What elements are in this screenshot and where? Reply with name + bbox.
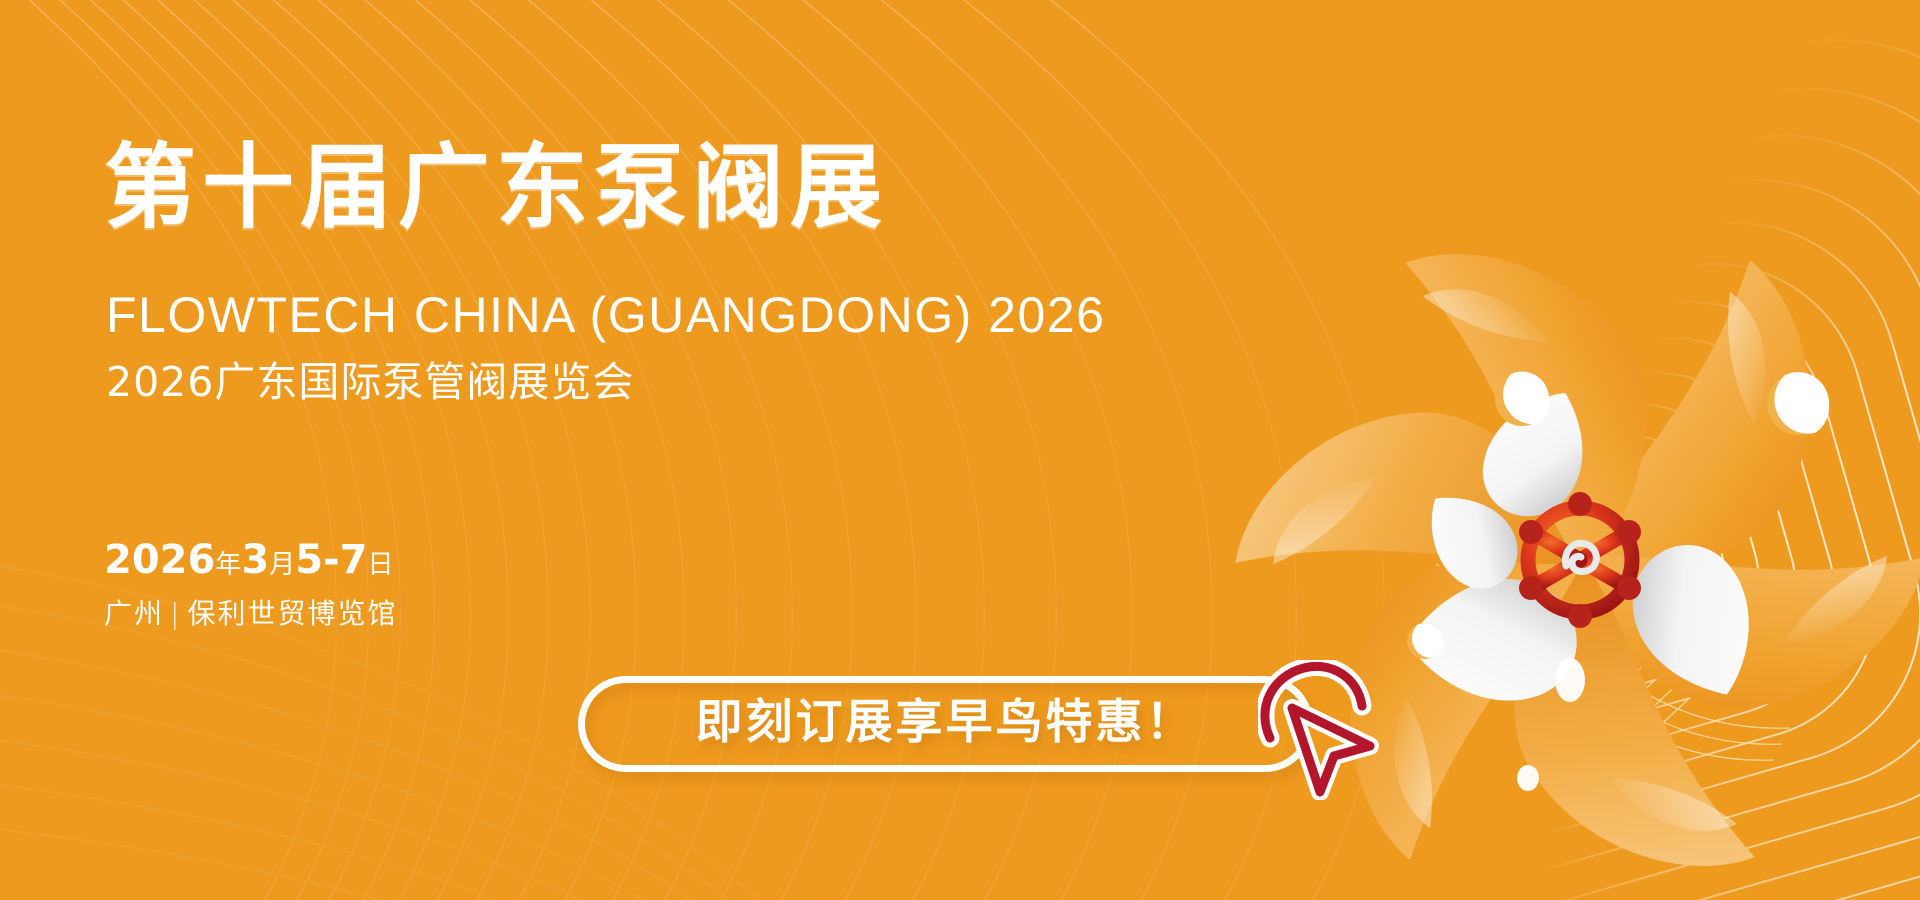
page-title: 第十届广东泵阀展 xyxy=(104,142,888,234)
date-day-unit: 日 xyxy=(367,550,393,580)
date-year-unit: 年 xyxy=(215,550,241,580)
event-date: 2026年3月5-7日 xyxy=(104,540,393,580)
date-year: 2026 xyxy=(104,537,215,583)
venue-name: 保利世贸博览馆 xyxy=(187,597,397,630)
mouse-click-cursor-icon xyxy=(1258,660,1388,800)
title-subtitle: 2026广东国际泵管阀展览会 xyxy=(106,362,634,403)
cta-label: 即刻订展享早鸟特惠！ xyxy=(696,699,1196,746)
venue-city: 广州 xyxy=(104,597,164,630)
early-bird-cta-button[interactable]: 即刻订展享早鸟特惠！ xyxy=(578,676,1313,772)
event-venue: 广州|保利世贸博览馆 xyxy=(104,600,397,628)
exhibition-banner: 第十届广东泵阀展 FLOWTECH CHINA (GUANGDONG) 2026… xyxy=(0,0,1920,900)
date-month-unit: 月 xyxy=(269,550,295,580)
title-english: FLOWTECH CHINA (GUANGDONG) 2026 xyxy=(106,290,1105,340)
date-month: 3 xyxy=(241,537,269,583)
date-days: 5-7 xyxy=(295,537,367,583)
venue-separator: | xyxy=(164,597,187,630)
